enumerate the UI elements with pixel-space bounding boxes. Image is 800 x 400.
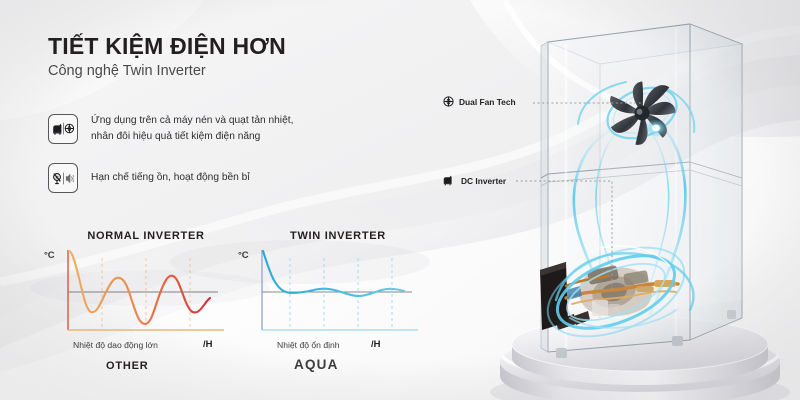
chart-xlabel-normal: /H bbox=[203, 339, 213, 350]
feature-icon-compressor-fan bbox=[48, 114, 78, 144]
callout-label-dual-fan-tech: Dual Fan Tech bbox=[459, 97, 516, 107]
chart-normal-inverter: NORMAL INVERTER bbox=[56, 230, 236, 242]
feature-text-compressor-fan: Ứng dụng trên cả máy nén và quạt tản nhi… bbox=[91, 113, 293, 145]
chart-title-twin: TWIN INVERTER bbox=[248, 230, 428, 242]
promo-banner: TIẾT KIỆM ĐIỆN HƠN Công nghệ Twin Invert… bbox=[0, 0, 800, 400]
feature-item-compressor-fan: Ứng dụng trên cả máy nén và quạt tản nhi… bbox=[48, 113, 293, 145]
chart-unit-normal: °C bbox=[44, 250, 55, 261]
chart-unit-twin: °C bbox=[238, 250, 249, 261]
compressor-icon bbox=[53, 124, 61, 135]
fan-icon bbox=[443, 96, 454, 107]
callout-label-dc-inverter: DC Inverter bbox=[461, 176, 506, 186]
feature-item-low-noise: Hạn chế tiếng ồn, hoạt động bền bỉ bbox=[48, 163, 250, 193]
chart-twin-inverter: TWIN INVERTER bbox=[248, 230, 428, 242]
chart-annotation-normal: Nhiệt độ dao động lớn bbox=[73, 340, 158, 350]
chart-gridlines-normal bbox=[102, 258, 190, 330]
callout-dc-inverter: DC Inverter bbox=[443, 175, 506, 186]
chart-plot-normal bbox=[58, 248, 233, 338]
callout-dual-fan-tech: Dual Fan Tech bbox=[443, 96, 516, 107]
mute-icon bbox=[54, 173, 61, 183]
feature-line-2: nhân đôi hiệu quả tiết kiệm điện năng bbox=[91, 129, 293, 145]
chart-gridlines-twin bbox=[290, 258, 392, 330]
feature-line-1: Ứng dụng trên cả máy nén và quạt tản nhi… bbox=[91, 113, 293, 129]
chart-brand-aqua: AQUA bbox=[294, 357, 339, 372]
chart-series-twin bbox=[263, 251, 404, 296]
chart-annotation-twin: Nhiệt độ ổn định bbox=[277, 340, 340, 350]
chart-title-normal: NORMAL INVERTER bbox=[56, 230, 236, 242]
chart-xlabel-twin: /H bbox=[371, 339, 381, 350]
page-subtitle: Công nghệ Twin Inverter bbox=[48, 63, 206, 79]
chart-plot-twin bbox=[252, 248, 427, 338]
feature-text-low-noise: Hạn chế tiếng ồn, hoạt động bền bỉ bbox=[91, 170, 250, 186]
speaker-icon bbox=[66, 174, 74, 182]
fan-icon bbox=[65, 125, 73, 133]
compressor-icon bbox=[443, 175, 456, 186]
chart-brand-other: OTHER bbox=[106, 360, 149, 372]
feature-icon-low-noise bbox=[48, 163, 78, 193]
page-title: TIẾT KIỆM ĐIỆN HƠN bbox=[48, 33, 286, 60]
chart-series-normal bbox=[69, 251, 210, 324]
